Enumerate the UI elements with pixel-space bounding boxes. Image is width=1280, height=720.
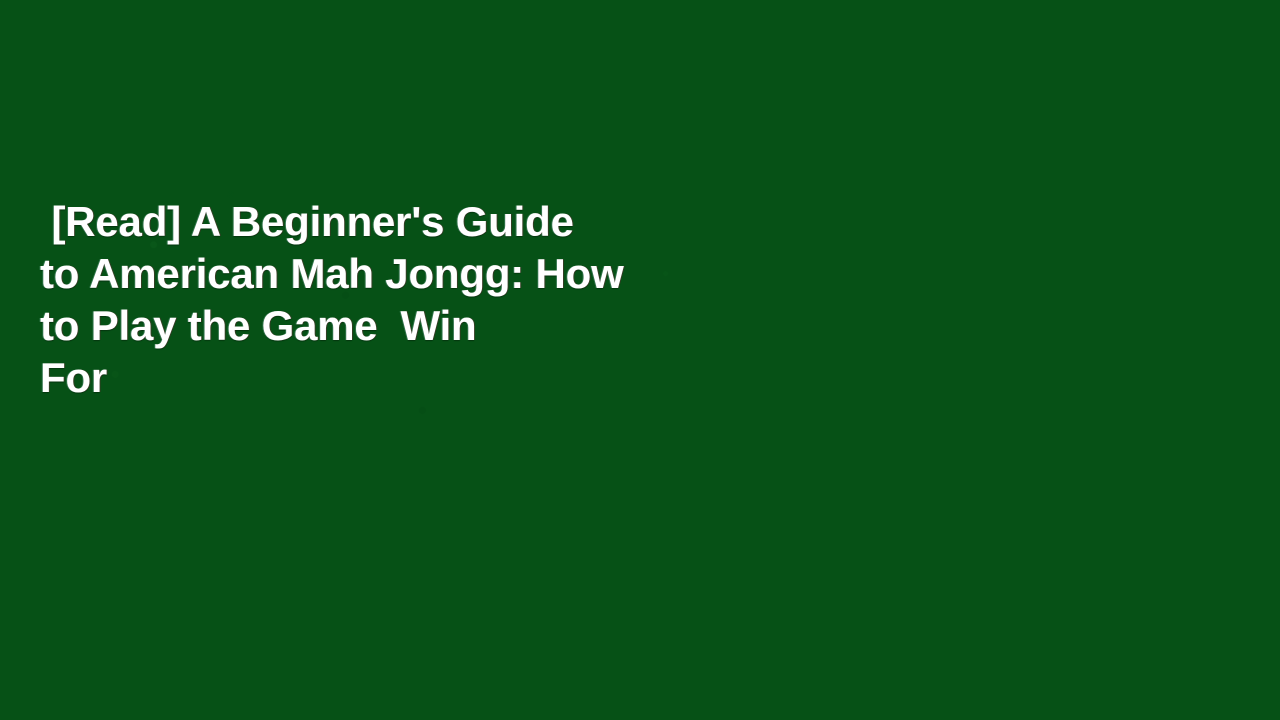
title-line-1: [Read] A Beginner's Guide	[40, 196, 800, 248]
book-title: [Read] A Beginner's Guide to American Ma…	[40, 196, 800, 404]
book-title-thumbnail: [Read] A Beginner's Guide to American Ma…	[0, 0, 1280, 720]
title-line-2: to American Mah Jongg: How	[40, 248, 800, 300]
title-line-3: to Play the Game Win	[40, 300, 800, 352]
title-line-4: For	[40, 352, 800, 404]
